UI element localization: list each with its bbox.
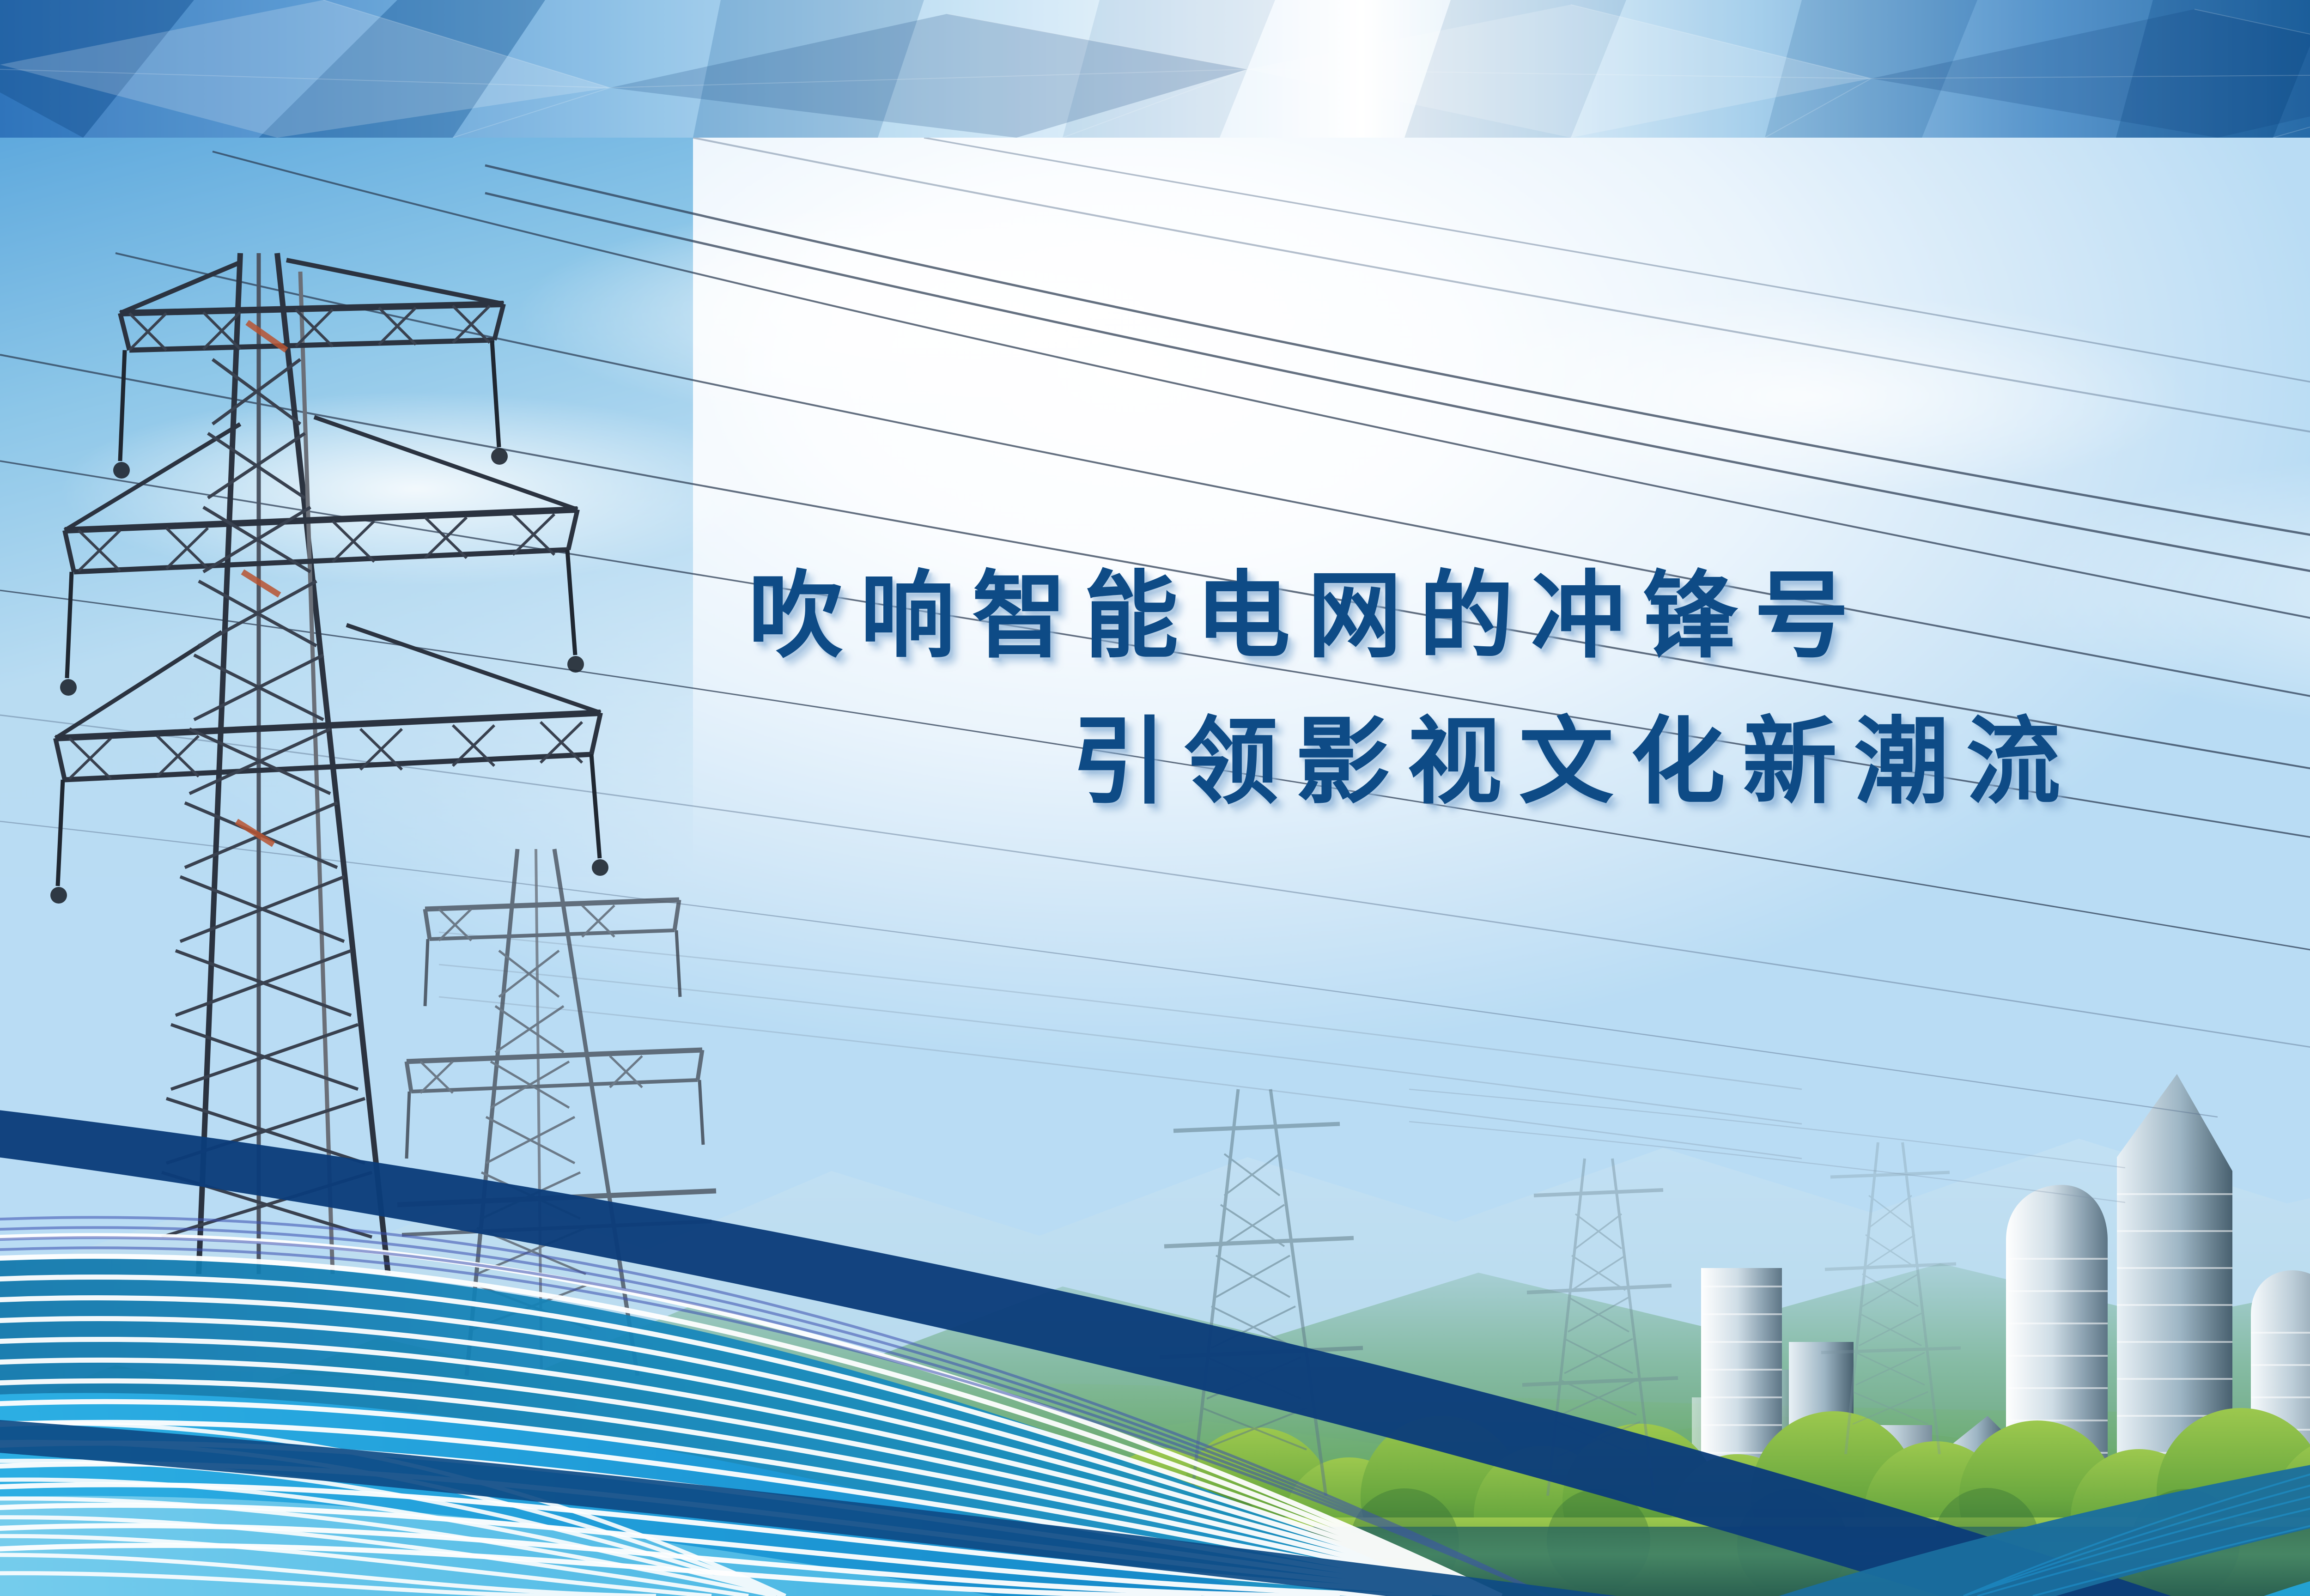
wave-ribbons — [0, 0, 2310, 1596]
banner-canvas: 吹响智能电网的冲锋号 引领影视文化新潮流 — [0, 0, 2310, 1596]
